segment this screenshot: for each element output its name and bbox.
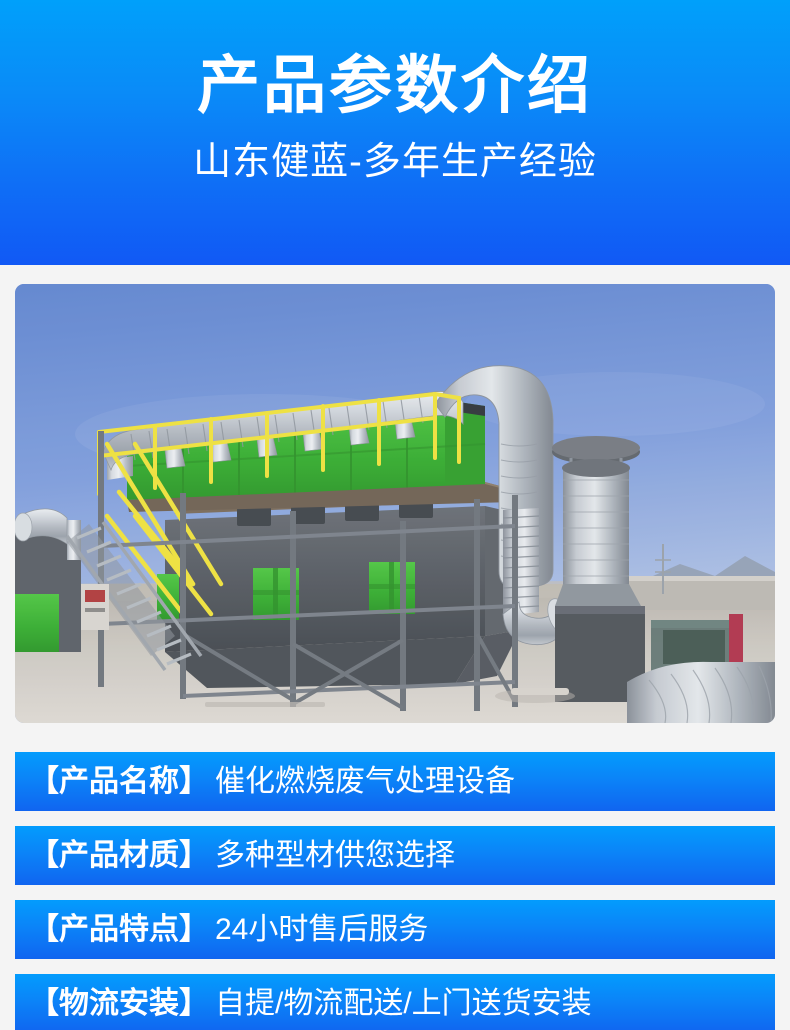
spec-value: 24小时售后服务 (215, 915, 428, 945)
spec-row-product-features: 【产品特点】 24小时售后服务 (15, 900, 775, 959)
spec-row-product-name: 【产品名称】 催化燃烧废气处理设备 (15, 752, 775, 811)
spec-value: 催化燃烧废气处理设备 (215, 767, 515, 797)
spec-value: 多种型材供您选择 (215, 841, 455, 871)
spec-row-product-material: 【产品材质】 多种型材供您选择 (15, 826, 775, 885)
product-photo (15, 284, 775, 723)
product-photo-illustration (15, 284, 775, 723)
spec-row-logistics-installation: 【物流安装】 自提/物流配送/上门送货安装 (15, 974, 775, 1030)
product-parameters-page: 产品参数介绍 山东健蓝-多年生产经验 (0, 0, 790, 1030)
page-subtitle: 山东健蓝-多年生产经验 (193, 142, 597, 184)
page-title: 产品参数介绍 (197, 52, 593, 120)
spec-label: 【物流安装】 (29, 989, 209, 1019)
page-header-banner: 产品参数介绍 山东健蓝-多年生产经验 (0, 0, 790, 265)
product-spec-list: 【产品名称】 催化燃烧废气处理设备 【产品材质】 多种型材供您选择 【产品特点】… (15, 752, 775, 1030)
spec-label: 【产品特点】 (29, 915, 209, 945)
spec-label: 【产品名称】 (29, 767, 209, 797)
spec-value: 自提/物流配送/上门送货安装 (215, 989, 592, 1019)
spec-label: 【产品材质】 (29, 841, 209, 871)
